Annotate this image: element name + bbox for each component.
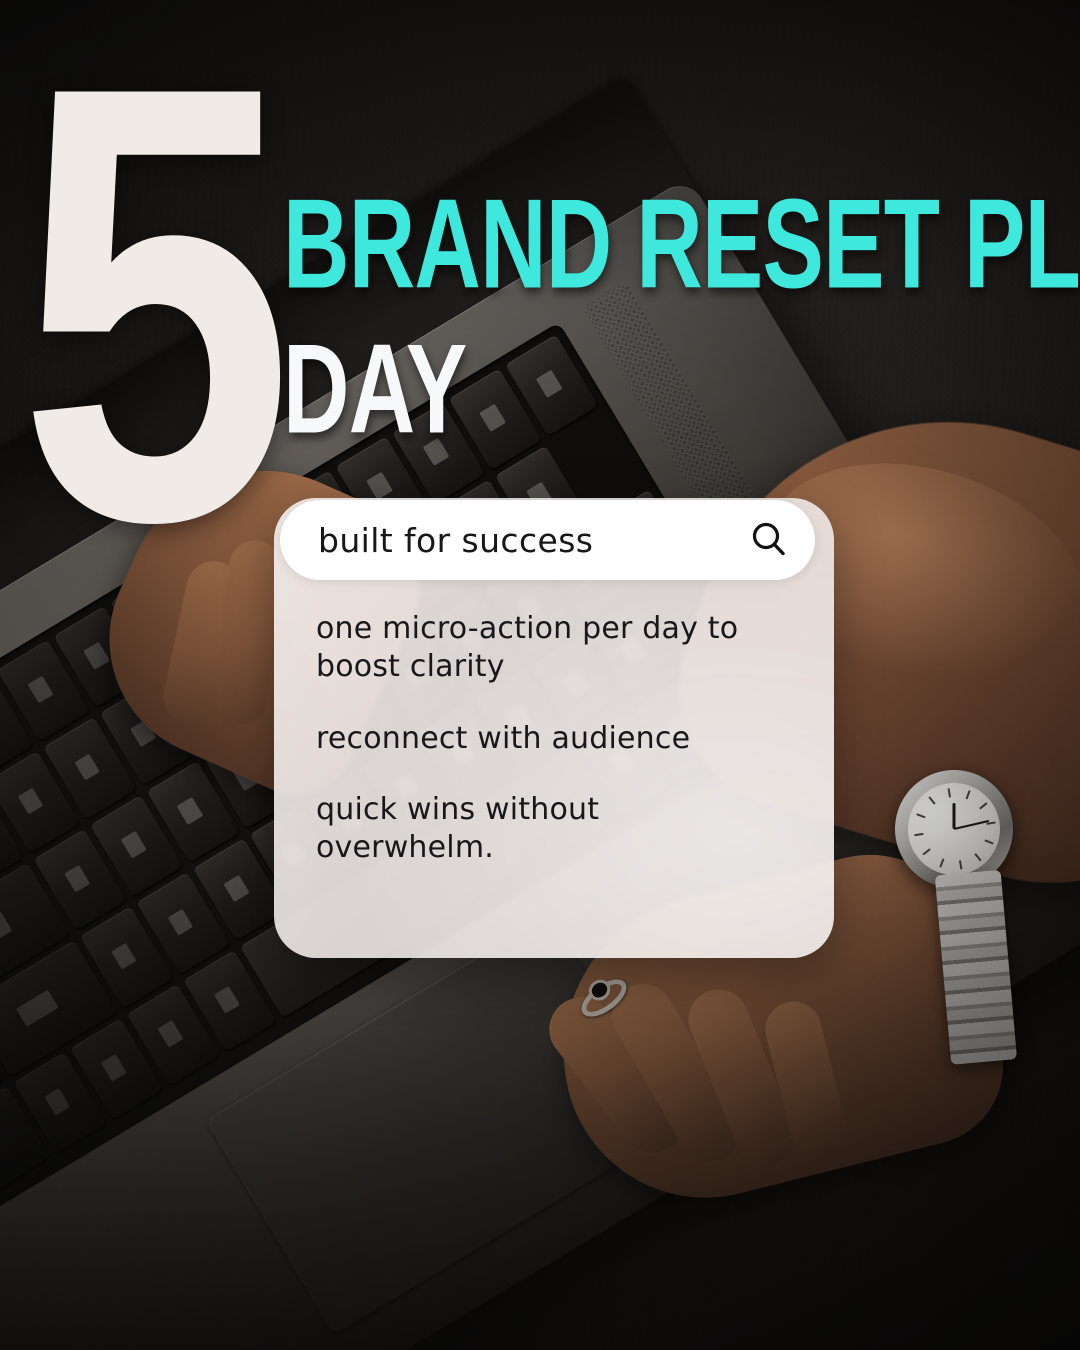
card-line-1: one micro-action per day to boost clarit… — [316, 610, 786, 686]
poster-canvas: 5 BRAND RESET PLAN DAY built for success… — [0, 0, 1080, 1350]
card-line-2: reconnect with audience — [316, 720, 786, 758]
search-result-card: built for success one micro-action per d… — [274, 498, 834, 958]
hero-headline-block: BRAND RESET PLAN DAY — [283, 186, 1080, 439]
card-body: one micro-action per day to boost clarit… — [316, 610, 786, 867]
card-line-3: quick wins without overwhelm. — [316, 791, 786, 867]
search-icon[interactable] — [749, 520, 789, 560]
search-input[interactable]: built for success — [318, 521, 749, 560]
hero-headline-primary: BRAND RESET PLAN — [283, 186, 1080, 303]
hero-number: 5 — [18, 0, 279, 614]
search-bar[interactable]: built for success — [280, 500, 815, 580]
hero-headline-secondary: DAY — [283, 331, 1080, 448]
